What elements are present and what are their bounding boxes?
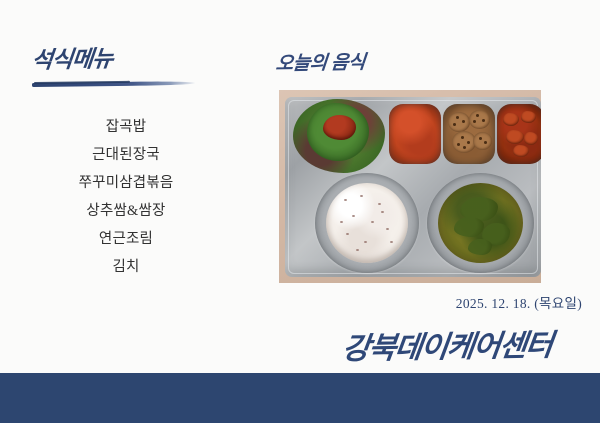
rice-grain [352, 215, 355, 217]
menu-item: 쭈꾸미삼겹볶음 [26, 169, 226, 197]
lotus-hole [463, 146, 466, 149]
rice-grain [378, 203, 381, 205]
footer-bar [0, 373, 600, 423]
rice-grain [356, 249, 359, 251]
lotus-hole [476, 114, 479, 117]
kimchi-compartment [389, 104, 441, 164]
lotus-slice [448, 112, 470, 132]
lotus-hole [457, 143, 460, 146]
rice-bowl [315, 173, 419, 273]
stirfry-chunk [524, 132, 538, 145]
multigrain-rice [326, 183, 408, 263]
menu-title: 석식메뉴 [30, 39, 114, 75]
menu-item: 연근조림 [26, 225, 226, 253]
menu-item: 김치 [26, 253, 226, 281]
chard-greens [454, 217, 484, 237]
rice-grain [364, 241, 367, 243]
spicy-stirfry-compartment [497, 104, 541, 164]
stirfry-chunk [503, 113, 519, 126]
title-underline-stroke [32, 81, 195, 87]
rice-grain [340, 221, 343, 223]
lotus-hole [479, 137, 482, 140]
stirfry-chunk [521, 111, 536, 123]
lotus-slice [473, 132, 492, 150]
lotus-hole [482, 119, 485, 122]
lotus-root-compartment [443, 104, 495, 164]
rice-grain [386, 228, 389, 230]
center-signature: 강북데이케어센터 [340, 320, 555, 368]
menu-date: 2025. 12. 18. (목요일) [456, 292, 582, 312]
menu-card: 석식메뉴 잡곡밥 근대된장국 쭈꾸미삼겹볶음 상추쌈&쌈장 연근조림 김치 오늘… [0, 0, 600, 423]
rice-grain [344, 199, 347, 201]
lotus-hole [484, 141, 487, 144]
rice-grain [371, 221, 374, 223]
lotus-slice [469, 110, 490, 129]
stirfry-chunk [506, 130, 524, 144]
rice-grain [346, 233, 349, 235]
photo-title: 오늘의 음식 [275, 47, 367, 76]
menu-list: 잡곡밥 근대된장국 쭈꾸미삼겹볶음 상추쌈&쌈장 연근조림 김치 [26, 113, 226, 281]
lotus-hole [461, 136, 464, 139]
lotus-hole [453, 123, 456, 126]
rice-grain [390, 241, 393, 243]
menu-item: 잡곡밥 [26, 113, 226, 141]
menu-item: 근대된장국 [26, 141, 226, 169]
chard-greens [468, 239, 492, 255]
lotus-hole [462, 120, 465, 123]
chard-doenjang-soup [438, 183, 523, 263]
stirfry-chunk [513, 145, 529, 157]
lotus-hole [473, 120, 476, 123]
meal-photo [279, 90, 541, 283]
soup-bowl [427, 173, 534, 273]
ssamjang-paste [323, 115, 356, 140]
rice-grain [360, 195, 363, 197]
food-tray [285, 97, 541, 277]
lotus-hole [456, 116, 459, 119]
menu-item: 상추쌈&쌈장 [26, 197, 226, 225]
lotus-hole [467, 141, 470, 144]
rice-grain [381, 211, 384, 213]
